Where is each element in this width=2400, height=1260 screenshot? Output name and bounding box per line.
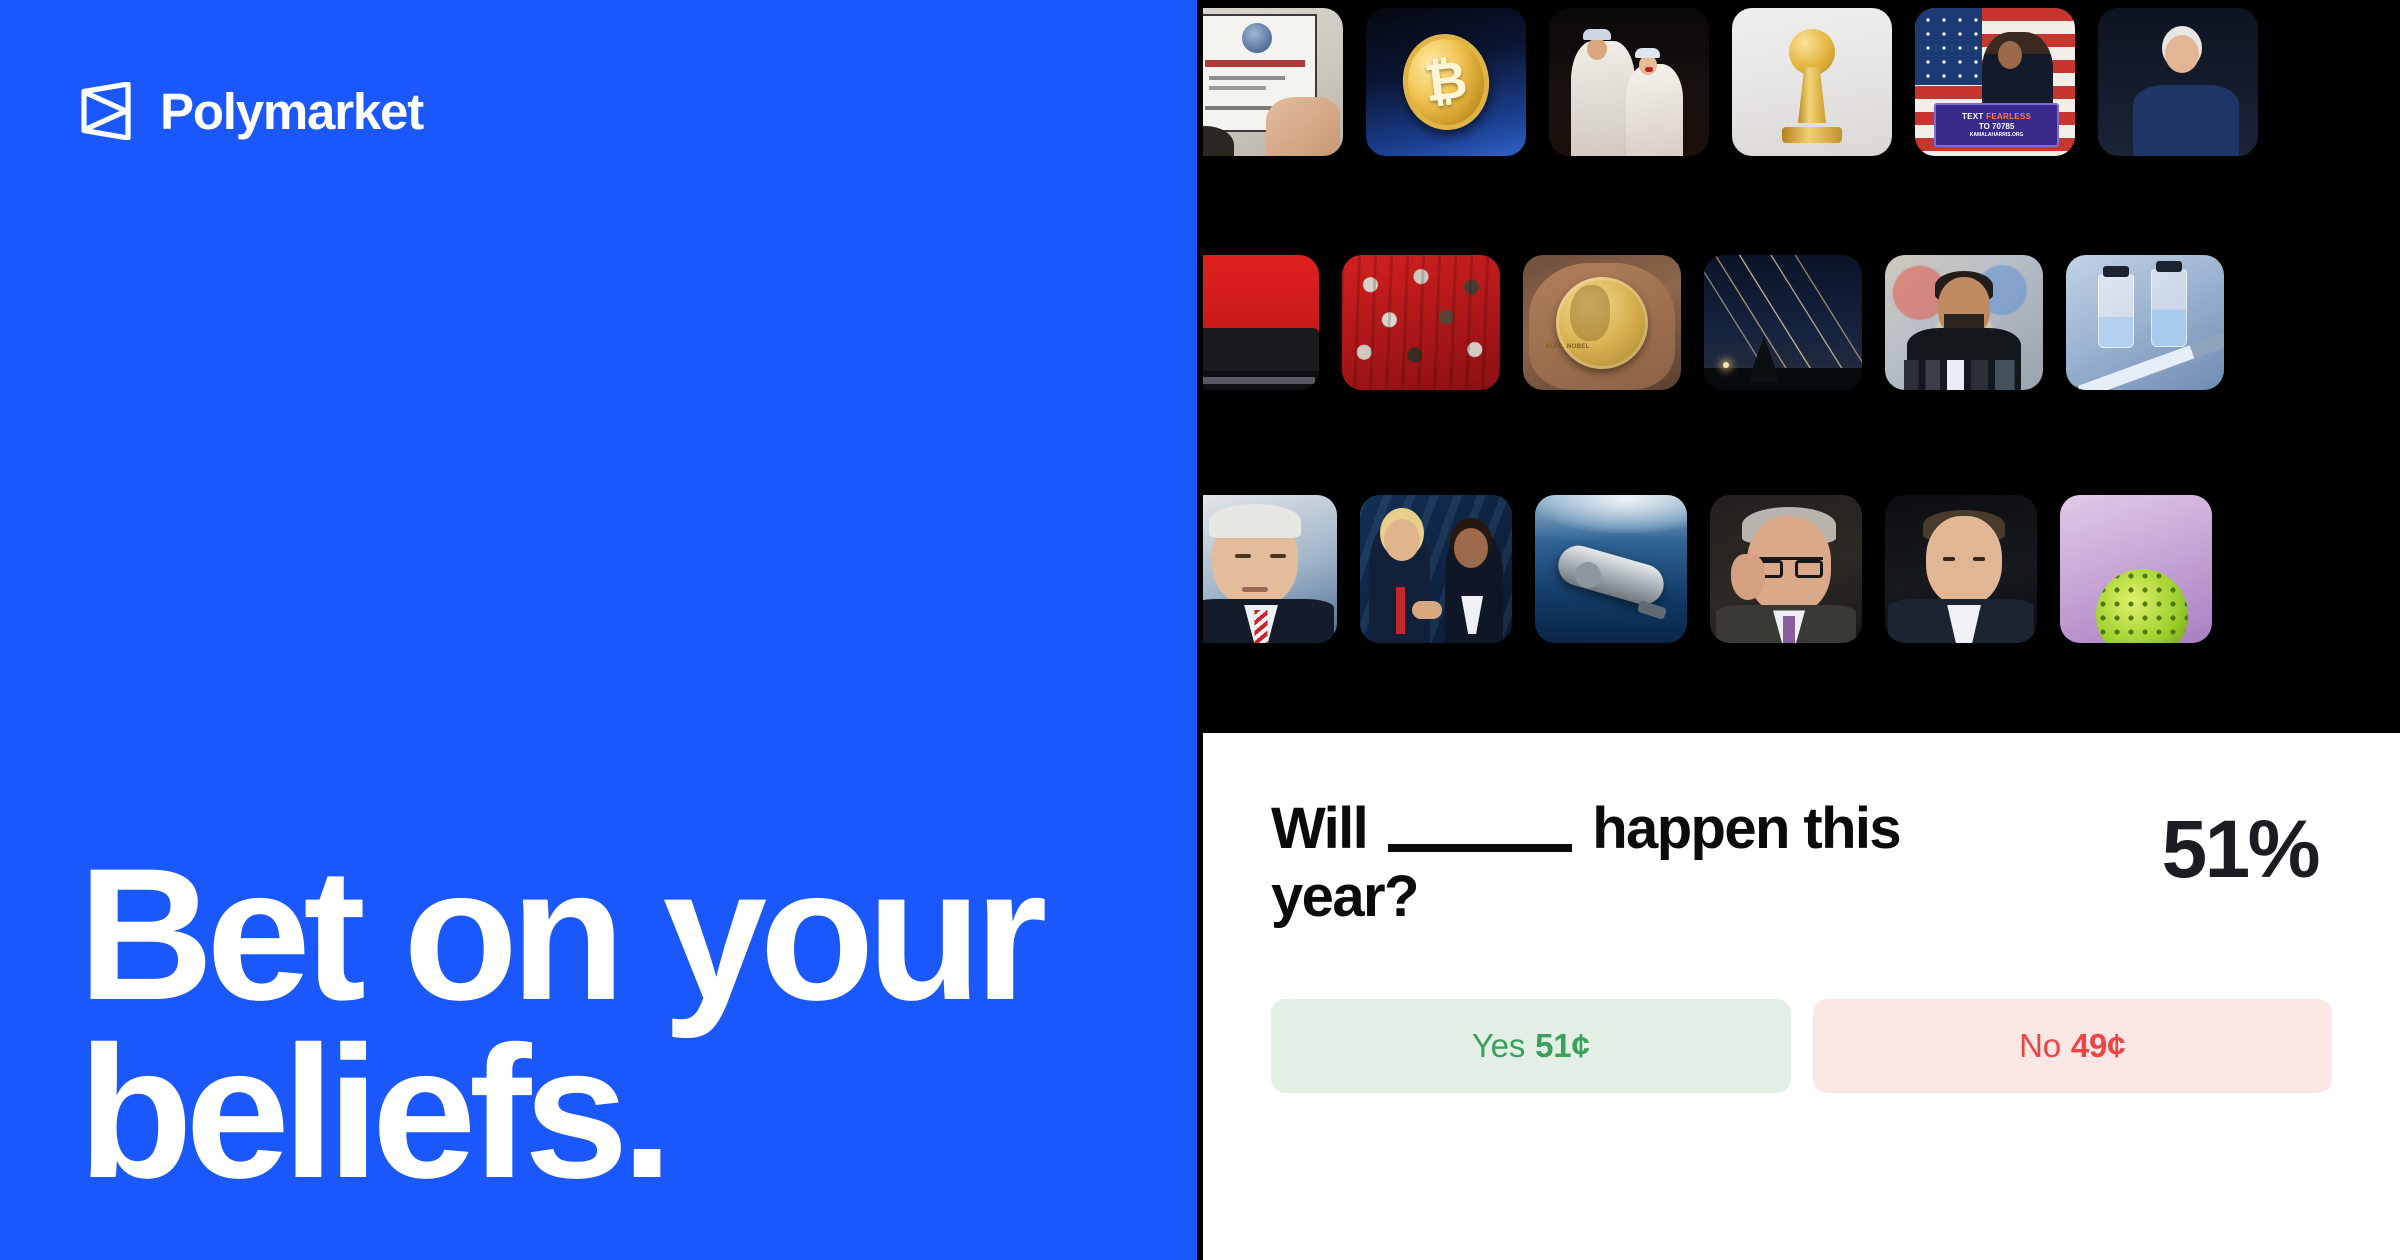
- tile-nobel-prize-medal[interactable]: ALFR. NOBEL: [1523, 255, 1681, 390]
- no-price: 49¢: [2071, 1027, 2125, 1065]
- tile-epstein-files-document[interactable]: [1203, 8, 1343, 156]
- tile-kamala-harris-rally[interactable]: TEXT FEARLESS TO 70785 KAMALAHARRIS.ORG: [1915, 8, 2075, 156]
- tile-breaking-news-banner[interactable]: [1203, 255, 1319, 390]
- tile-papal-conclave-cardinals[interactable]: [1342, 255, 1500, 390]
- sign-line1-highlight: FEARLESS: [1986, 112, 2031, 121]
- no-label: No: [2019, 1027, 2061, 1065]
- mosaic-row-1: TEXT FEARLESS TO 70785 KAMALAHARRIS.ORG: [1203, 8, 2258, 156]
- rally-sign: TEXT FEARLESS TO 70785 KAMALAHARRIS.ORG: [1934, 103, 2059, 147]
- hero-panel: Polymarket Bet on your beliefs.: [0, 0, 1197, 1260]
- market-image-mosaic: TEXT FEARLESS TO 70785 KAMALAHARRIS.ORG: [1203, 0, 2400, 733]
- tile-jerome-powell[interactable]: [1710, 495, 1862, 643]
- sign-line3: KAMALAHARRIS.ORG: [1970, 132, 2024, 138]
- buy-yes-button[interactable]: Yes 51¢: [1271, 999, 1791, 1093]
- tile-night-missile-strikes[interactable]: [1704, 255, 1862, 390]
- buy-no-button[interactable]: No 49¢: [1813, 999, 2333, 1093]
- tile-nba-championship-trophy[interactable]: [1732, 8, 1892, 156]
- headline-line-2: beliefs.: [78, 1023, 1138, 1202]
- page-title: Bet on your beliefs.: [78, 845, 1138, 1202]
- tile-vaccine-vials-syringe[interactable]: [2066, 255, 2224, 390]
- market-probability: 51%: [2162, 795, 2332, 891]
- tile-travis-kelce-taylor-swift[interactable]: [1549, 8, 1709, 156]
- nobel-medal-label: ALFR. NOBEL: [1545, 344, 1590, 350]
- tile-trump-harris-debate-handshake[interactable]: [1360, 495, 1512, 643]
- brand-name: Polymarket: [160, 86, 423, 137]
- market-card-header: Will happen this year? 51%: [1271, 795, 2332, 931]
- tile-titan-submersible[interactable]: [1535, 495, 1687, 643]
- market-question-prefix: Will: [1271, 796, 1367, 861]
- sign-line1-prefix: TEXT: [1962, 112, 1984, 121]
- market-question: Will happen this year?: [1271, 795, 1961, 931]
- headline-line-1: Bet on your: [78, 845, 1138, 1024]
- tile-elon-musk[interactable]: [1885, 495, 2037, 643]
- tile-joe-biden-rally[interactable]: [2098, 8, 2258, 156]
- sign-line2: TO 70785: [1979, 122, 2014, 131]
- yes-price: 51¢: [1535, 1027, 1589, 1065]
- mosaic-row-2: ALFR. NOBEL: [1203, 255, 2224, 390]
- polymarket-logo-icon: [78, 82, 134, 140]
- tile-press-conference-speaker[interactable]: [1885, 255, 2043, 390]
- market-question-blank: [1388, 844, 1572, 852]
- tile-virus-microscopy[interactable]: [2060, 495, 2212, 643]
- page-root: Polymarket Bet on your beliefs.: [0, 0, 2400, 1260]
- mosaic-row-3: [1203, 495, 2212, 643]
- preview-panel: TEXT FEARLESS TO 70785 KAMALAHARRIS.ORG: [1203, 0, 2400, 1260]
- market-card[interactable]: Will happen this year? 51% Yes 51¢ No 49…: [1203, 733, 2400, 1260]
- tile-bitcoin-coin[interactable]: [1366, 8, 1526, 156]
- brand-lockup[interactable]: Polymarket: [78, 82, 423, 140]
- yes-label: Yes: [1472, 1027, 1525, 1065]
- market-actions: Yes 51¢ No 49¢: [1271, 999, 2332, 1093]
- tile-joe-biden-portrait[interactable]: [1203, 495, 1337, 643]
